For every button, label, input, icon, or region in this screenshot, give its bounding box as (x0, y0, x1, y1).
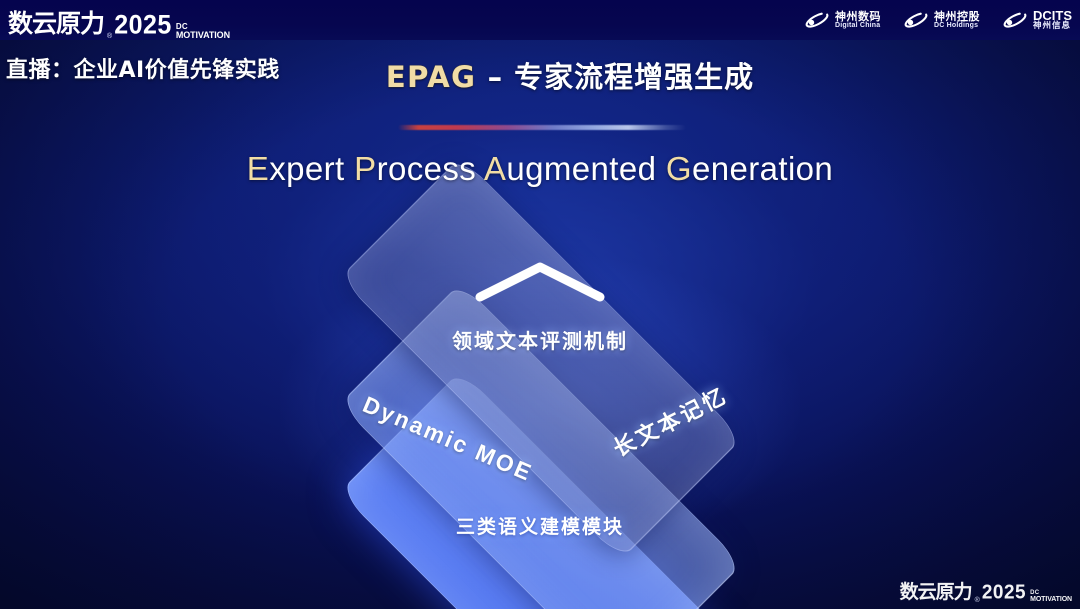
event-logo-registered: ® (107, 33, 112, 40)
brand-name-cn: 神州数码 (835, 11, 881, 22)
swirl-icon (1002, 9, 1028, 31)
brand-logo-group: 神州数码 Digital China 神州控股 DC Holdings (804, 4, 1072, 36)
subtitle-cap-a: A (484, 150, 506, 187)
subtitle-rest-process: rocess (377, 150, 484, 187)
brand-name-cn: 神州信息 (1033, 22, 1072, 31)
watermark-logo-cn: 数云原力 (900, 577, 972, 604)
slide-canvas: 数云原力 ® 2025 DC MOTIVATION 直播：企业AI价值先锋实践 … (0, 0, 1080, 609)
event-logo-year: 2025 (114, 10, 172, 41)
layer-stack-diagram: 领域文本评测机制 Dynamic MOE 长文本记忆 三类语义建模模块 (0, 215, 1080, 595)
brand-text: 神州数码 Digital China (835, 11, 881, 29)
subtitle-rest-augmented: ugmented (506, 150, 666, 187)
event-logo-cn: 数云原力 (8, 4, 104, 40)
subtitle-rest-generation: eneration (692, 150, 833, 187)
title-divider (398, 125, 686, 130)
event-logo-dcm: DC MOTIVATION (176, 23, 230, 40)
subtitle-cap-p: P (354, 150, 376, 187)
brand-text: DCITS 神州信息 (1033, 9, 1072, 31)
watermark-logo-year: 2025 (982, 581, 1026, 605)
brand-name-en: DC Holdings (934, 22, 980, 29)
brand-logo-digital-china: 神州数码 Digital China (804, 9, 881, 31)
brand-text: 神州控股 DC Holdings (934, 11, 980, 29)
watermark-logo-dcm: DC MOTIVATION (1030, 591, 1072, 604)
swirl-icon (804, 9, 830, 31)
brand-logo-dcits: DCITS 神州信息 (1002, 9, 1072, 31)
brand-name-cn: 神州控股 (934, 11, 980, 22)
watermark-logo-registered: ® (975, 597, 980, 604)
subtitle-cap-e: E (247, 150, 269, 187)
title-chinese: 专家流程增强生成 (514, 60, 754, 94)
subtitle-rest-expert: xpert (269, 150, 354, 187)
brand-logo-dc-holdings: 神州控股 DC Holdings (903, 9, 980, 31)
title-separator: – (476, 60, 514, 94)
watermark-logo: 数云原力 ® 2025 DC MOTIVATION (900, 577, 1072, 604)
swirl-icon (903, 9, 929, 31)
event-logo-motivation: MOTIVATION (176, 31, 230, 39)
watermark-logo-motivation: MOTIVATION (1030, 597, 1072, 603)
live-banner: 直播：企业AI价值先锋实践 (6, 52, 280, 84)
brand-name-en: Digital China (835, 22, 881, 29)
title-acronym: EPAG (386, 60, 477, 94)
subtitle-cap-g: G (666, 150, 692, 187)
event-logo: 数云原力 ® 2025 DC MOTIVATION (8, 4, 230, 40)
slide-subtitle: Expert Process Augmented Generation (0, 150, 1080, 188)
